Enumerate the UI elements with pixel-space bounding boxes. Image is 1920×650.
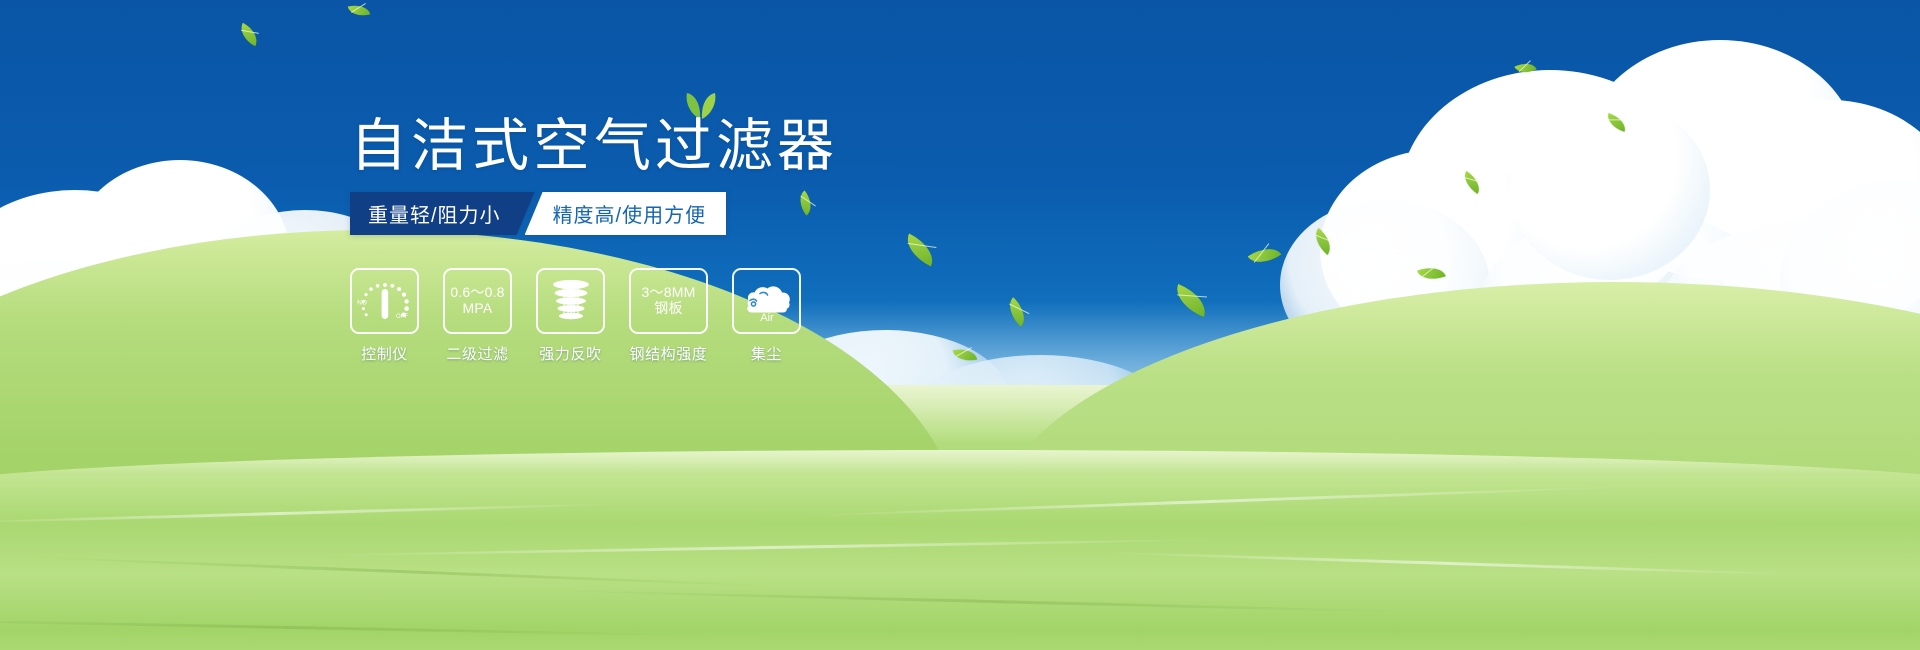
feature-badge[interactable]: NO OFF 控制仪: [350, 268, 419, 364]
tagline-bar: 重量轻/阻力小 精度高/使用方便: [350, 192, 726, 235]
feature-badge[interactable]: 强力反吹: [536, 268, 605, 364]
steel-plate-text-box: 3～8MM 钢板: [629, 268, 708, 334]
control-dial-box: NO OFF: [350, 268, 419, 334]
tagline-right: 精度高/使用方便: [525, 192, 727, 235]
steel-line-2: 钢板: [654, 301, 682, 317]
feature-label: 集尘: [751, 343, 782, 364]
filter-coil-box: [536, 268, 605, 334]
pressure-line-1: 0.6～0.8: [450, 285, 504, 301]
air-cloud-icon: Air: [739, 279, 795, 323]
feature-label: 钢结构强度: [629, 343, 707, 364]
control-dial-icon: NO OFF: [356, 276, 414, 326]
feature-badge[interactable]: 0.6～0.8 MPA 二级过滤: [443, 268, 512, 364]
dial-off-label: OFF: [396, 314, 408, 320]
hero-banner: 自洁式空气过滤器 重量轻/阻力小 精度高/使用方便: [0, 0, 1920, 650]
pressure-line-2: MPA: [463, 301, 493, 317]
feature-badge[interactable]: Air 集尘: [732, 268, 801, 364]
feature-badge-row: NO OFF 控制仪 0.6～0.8 MPA 二级过滤: [350, 268, 801, 364]
filter-coil-icon: [546, 277, 596, 325]
dial-on-label: NO: [357, 300, 367, 307]
air-label: Air: [760, 312, 774, 323]
feature-label: 二级过滤: [446, 343, 508, 364]
pressure-text-box: 0.6～0.8 MPA: [443, 268, 512, 334]
banner-content: 自洁式空气过滤器 重量轻/阻力小 精度高/使用方便: [0, 0, 1920, 650]
page-title: 自洁式空气过滤器: [350, 118, 838, 175]
steel-line-1: 3～8MM: [642, 285, 696, 301]
feature-label: 控制仪: [361, 343, 408, 364]
feature-label: 强力反吹: [539, 343, 601, 364]
tagline-left: 重量轻/阻力小: [350, 192, 535, 235]
feature-badge[interactable]: 3～8MM 钢板 钢结构强度: [629, 268, 708, 364]
air-cloud-box: Air: [732, 268, 801, 334]
